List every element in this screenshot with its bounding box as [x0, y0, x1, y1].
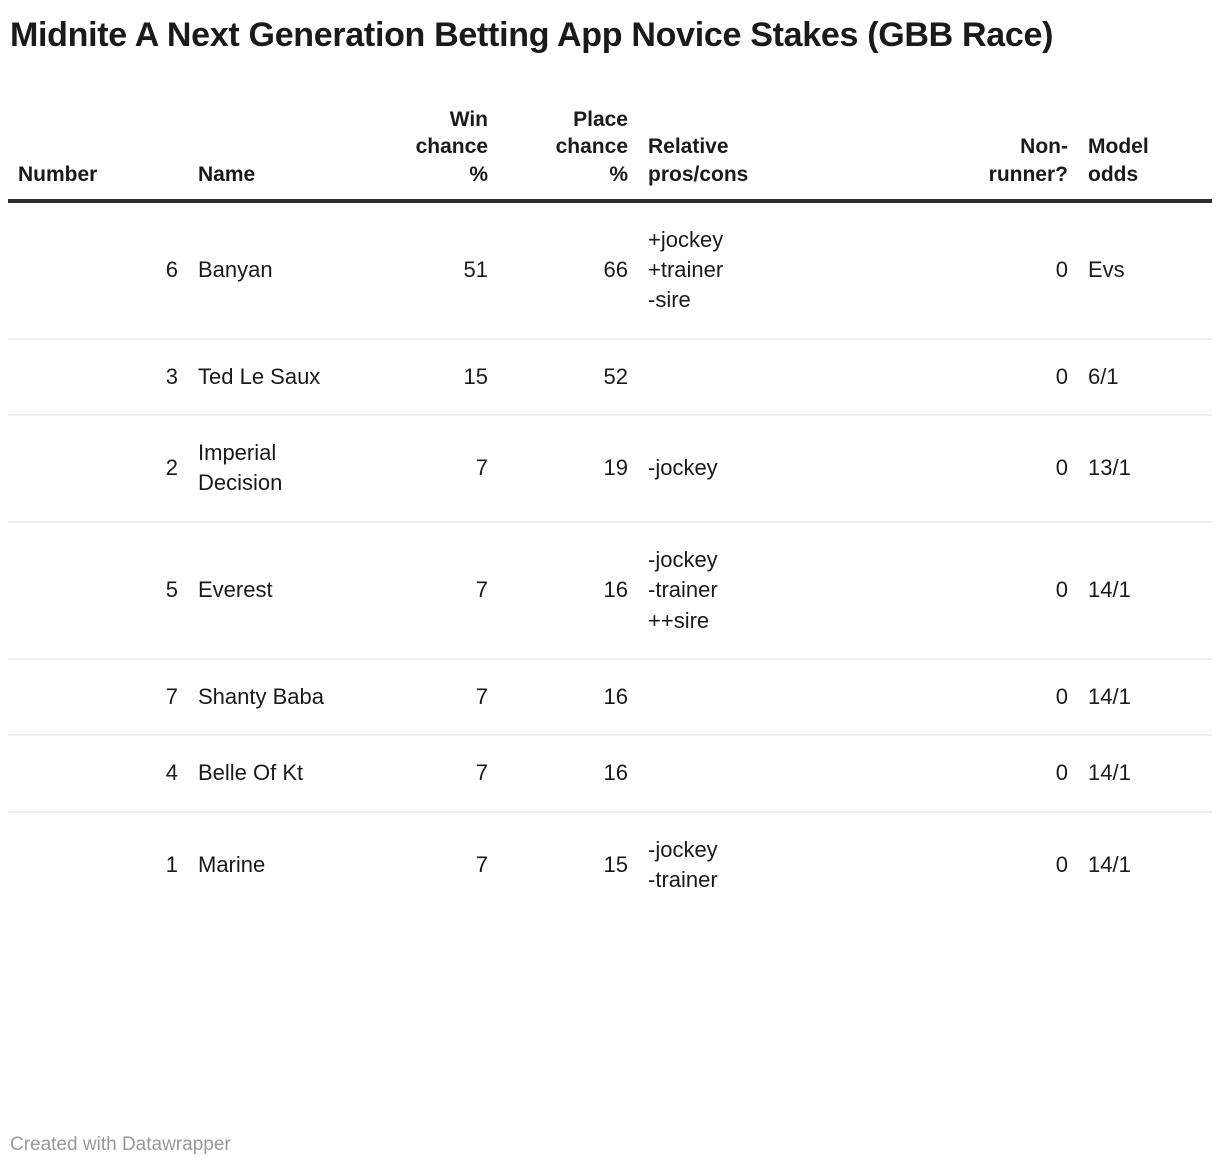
table-row[interactable]: 6Banyan5166+jockey+trainer-sire0Evs — [8, 201, 1212, 339]
column-header-line: chance — [378, 133, 488, 161]
cell-number: 2 — [8, 415, 188, 522]
cell-win: 51 — [368, 201, 498, 339]
column-header-line: Name — [198, 161, 358, 189]
cell-pros: -jockey — [638, 415, 918, 522]
table-row[interactable]: 7Shanty Baba716 014/1 — [8, 659, 1212, 735]
table-container: Number Name Winchance% Placechance% Rela… — [0, 106, 1220, 918]
cell-name: Banyan — [188, 201, 368, 339]
column-header-line: Number — [18, 161, 178, 189]
cell-win: 7 — [368, 415, 498, 522]
column-header-line: runner? — [928, 161, 1068, 189]
pros-cons-line: -jockey — [648, 545, 908, 575]
cell-odds: Evs — [1078, 201, 1212, 339]
cell-win: 7 — [368, 522, 498, 659]
cell-pros: -jockey-trainer++sire — [638, 522, 918, 659]
pros-cons-line: -jockey — [648, 835, 908, 865]
datawrapper-credit[interactable]: Created with Datawrapper — [10, 1134, 231, 1156]
column-header-line: Win — [378, 106, 488, 134]
cell-nonrun: 0 — [918, 659, 1078, 735]
table-body: 6Banyan5166+jockey+trainer-sire0Evs3Ted … — [8, 201, 1212, 918]
cell-place: 66 — [498, 201, 638, 339]
cell-name: Everest — [188, 522, 368, 659]
column-header-win[interactable]: Winchance% — [368, 106, 498, 201]
cell-place: 52 — [498, 339, 638, 415]
table-row[interactable]: 4Belle Of Kt716 014/1 — [8, 735, 1212, 811]
table-row[interactable]: 3Ted Le Saux1552 06/1 — [8, 339, 1212, 415]
cell-odds: 14/1 — [1078, 659, 1212, 735]
column-header-nonrunner[interactable]: Non-runner? — [918, 106, 1078, 201]
table-header: Number Name Winchance% Placechance% Rela… — [8, 106, 1212, 201]
page-title: Midnite A Next Generation Betting App No… — [0, 0, 1220, 58]
pros-cons-line: -jockey — [648, 453, 908, 483]
cell-nonrun: 0 — [918, 812, 1078, 918]
cell-name: Shanty Baba — [188, 659, 368, 735]
cell-pros: +jockey+trainer-sire — [638, 201, 918, 339]
cell-name: Marine — [188, 812, 368, 918]
cell-empty — [648, 682, 908, 712]
cell-name: Belle Of Kt — [188, 735, 368, 811]
cell-empty — [648, 362, 908, 392]
column-header-line: chance — [508, 133, 628, 161]
cell-nonrun: 0 — [918, 415, 1078, 522]
table-row[interactable]: 5Everest716-jockey-trainer++sire014/1 — [8, 522, 1212, 659]
column-header-line: pros/cons — [648, 161, 908, 189]
cell-place: 16 — [498, 522, 638, 659]
cell-number: 3 — [8, 339, 188, 415]
datawrapper-table-page: Midnite A Next Generation Betting App No… — [0, 0, 1220, 1174]
cell-number: 5 — [8, 522, 188, 659]
cell-number: 7 — [8, 659, 188, 735]
cell-pros — [638, 339, 918, 415]
table-header-row: Number Name Winchance% Placechance% Rela… — [8, 106, 1212, 201]
cell-odds: 13/1 — [1078, 415, 1212, 522]
cell-name: Imperial Decision — [188, 415, 368, 522]
column-header-line: Place — [508, 106, 628, 134]
table-row[interactable]: 1Marine715-jockey-trainer014/1 — [8, 812, 1212, 918]
column-header-line: odds — [1088, 161, 1202, 189]
cell-odds: 6/1 — [1078, 339, 1212, 415]
cell-odds: 14/1 — [1078, 522, 1212, 659]
column-header-line: Model — [1088, 133, 1202, 161]
column-header-number[interactable]: Number — [8, 106, 188, 201]
cell-pros: -jockey-trainer — [638, 812, 918, 918]
cell-number: 6 — [8, 201, 188, 339]
cell-pros — [638, 735, 918, 811]
column-header-place[interactable]: Placechance% — [498, 106, 638, 201]
cell-win: 7 — [368, 659, 498, 735]
pros-cons-line: -sire — [648, 285, 908, 315]
column-header-name[interactable]: Name — [188, 106, 368, 201]
cell-nonrun: 0 — [918, 201, 1078, 339]
cell-win: 7 — [368, 812, 498, 918]
cell-empty — [648, 758, 908, 788]
cell-odds: 14/1 — [1078, 735, 1212, 811]
cell-place: 19 — [498, 415, 638, 522]
runners-table: Number Name Winchance% Placechance% Rela… — [8, 106, 1212, 918]
pros-cons-line: +trainer — [648, 255, 908, 285]
pros-cons-line: -trainer — [648, 865, 908, 895]
table-row[interactable]: 2Imperial Decision719-jockey013/1 — [8, 415, 1212, 522]
column-header-line: % — [508, 161, 628, 189]
column-header-line: Non- — [928, 133, 1068, 161]
cell-odds: 14/1 — [1078, 812, 1212, 918]
cell-number: 1 — [8, 812, 188, 918]
cell-win: 7 — [368, 735, 498, 811]
pros-cons-line: -trainer — [648, 575, 908, 605]
cell-place: 16 — [498, 735, 638, 811]
column-header-line: Relative — [648, 133, 908, 161]
pros-cons-line: +jockey — [648, 225, 908, 255]
cell-number: 4 — [8, 735, 188, 811]
cell-place: 16 — [498, 659, 638, 735]
column-header-line: % — [378, 161, 488, 189]
pros-cons-line: ++sire — [648, 606, 908, 636]
cell-name: Ted Le Saux — [188, 339, 368, 415]
column-header-pros[interactable]: Relativepros/cons — [638, 106, 918, 201]
cell-win: 15 — [368, 339, 498, 415]
cell-nonrun: 0 — [918, 522, 1078, 659]
cell-pros — [638, 659, 918, 735]
cell-nonrun: 0 — [918, 339, 1078, 415]
cell-place: 15 — [498, 812, 638, 918]
cell-nonrun: 0 — [918, 735, 1078, 811]
column-header-odds[interactable]: Modelodds — [1078, 106, 1212, 201]
